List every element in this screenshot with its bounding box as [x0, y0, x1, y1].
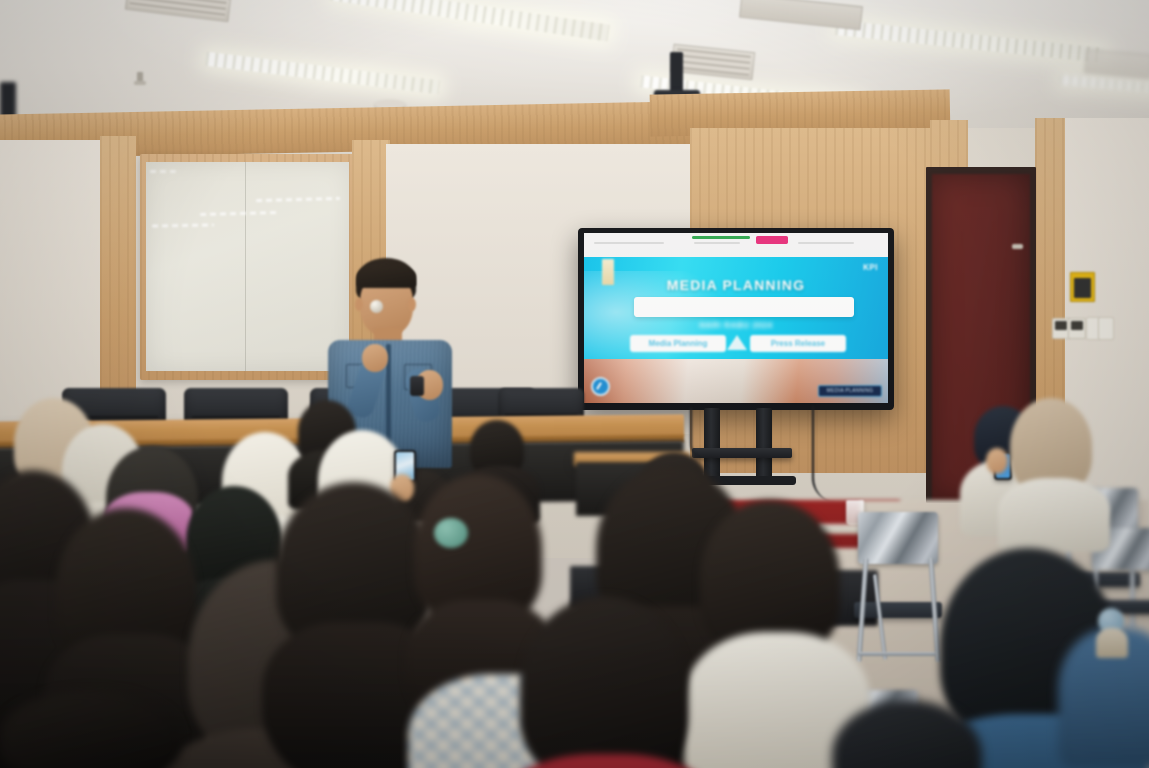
- hair: [520, 596, 688, 768]
- speaker-hair: [357, 264, 416, 288]
- tv-stand-column: [756, 408, 772, 480]
- presentation-slide: KPI MEDIA PLANNING HARI RABU 2024 Media …: [584, 233, 888, 403]
- folding-chair-back: [858, 512, 938, 564]
- slide-body: KPI MEDIA PLANNING HARI RABU 2024 Media …: [584, 257, 888, 403]
- speaker-ear: [355, 298, 363, 311]
- triangle-up-icon: [727, 335, 747, 350]
- tv-stand-shelf: [692, 448, 792, 458]
- speaker-ear: [408, 298, 416, 311]
- presenter-remote[interactable]: [410, 376, 424, 396]
- tv-power-cable: [690, 408, 706, 460]
- sprinkler-head: [137, 72, 143, 85]
- folding-chair-rail: [858, 652, 936, 656]
- shoulders: [998, 478, 1110, 552]
- left-wall-plaster: [0, 140, 104, 430]
- microphone-head: [370, 300, 383, 313]
- slide-footer-tag: MEDIA PLANNING: [818, 385, 882, 397]
- slide-title: MEDIA PLANNING: [584, 277, 888, 293]
- whiteboard-seam: [245, 162, 246, 371]
- tv-stand-column: [704, 408, 720, 480]
- folding-chair-seat: [854, 602, 942, 618]
- hair-scrunchie: [434, 518, 468, 548]
- pencil-badge-icon: [591, 377, 610, 396]
- slide-topbar-line: [798, 242, 854, 244]
- door-handle[interactable]: [1012, 244, 1023, 249]
- tv-screen[interactable]: KPI MEDIA PLANNING HARI RABU 2024 Media …: [584, 233, 888, 403]
- tv-power-cable: [812, 406, 836, 502]
- slide-button-press-release[interactable]: Press Release: [750, 335, 846, 352]
- screenshot-root: KPI MEDIA PLANNING HARI RABU 2024 Media …: [0, 0, 1149, 768]
- slide-subtitle: HARI RABU 2024: [584, 321, 888, 330]
- slide-topbar-green-accent: [692, 236, 750, 239]
- light-switch[interactable]: [1098, 317, 1114, 340]
- slide-content-panel: [634, 297, 854, 317]
- slide-button-media-planning[interactable]: Media Planning: [630, 335, 726, 352]
- folding-chair[interactable]: [854, 512, 940, 662]
- slide-topbar-line: [594, 242, 664, 244]
- emergency-sign: [1070, 272, 1095, 302]
- slide-logo: KPI: [863, 263, 878, 272]
- projector-mount: [670, 52, 683, 94]
- plush-body: [1096, 628, 1128, 658]
- slide-topbar-pink-accent: [756, 236, 788, 244]
- power-socket[interactable]: [1068, 318, 1086, 339]
- audience-hand: [986, 448, 1008, 474]
- speaker-hand-left: [362, 344, 388, 372]
- hijab: [1096, 420, 1149, 498]
- whiteboard-writing: [150, 170, 176, 173]
- slide-topbar-line: [694, 242, 740, 244]
